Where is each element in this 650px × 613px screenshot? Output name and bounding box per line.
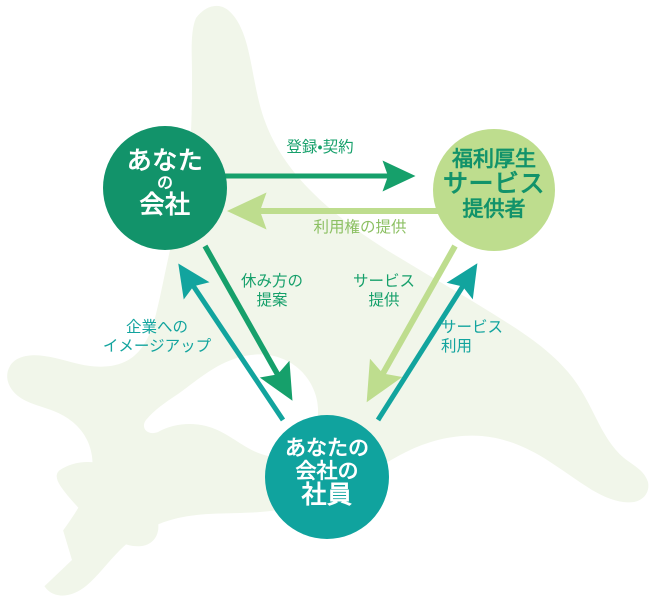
circle-welfare-service-provider[interactable] — [433, 129, 555, 251]
circle-your-company-employee[interactable] — [265, 415, 389, 539]
diagram-canvas: あなた の 会社 福利厚生 サービス 提供者 あなたの 会社の 社員 登録・契約… — [0, 0, 650, 613]
node-layer — [0, 0, 650, 613]
circle-your-company[interactable] — [103, 126, 227, 250]
